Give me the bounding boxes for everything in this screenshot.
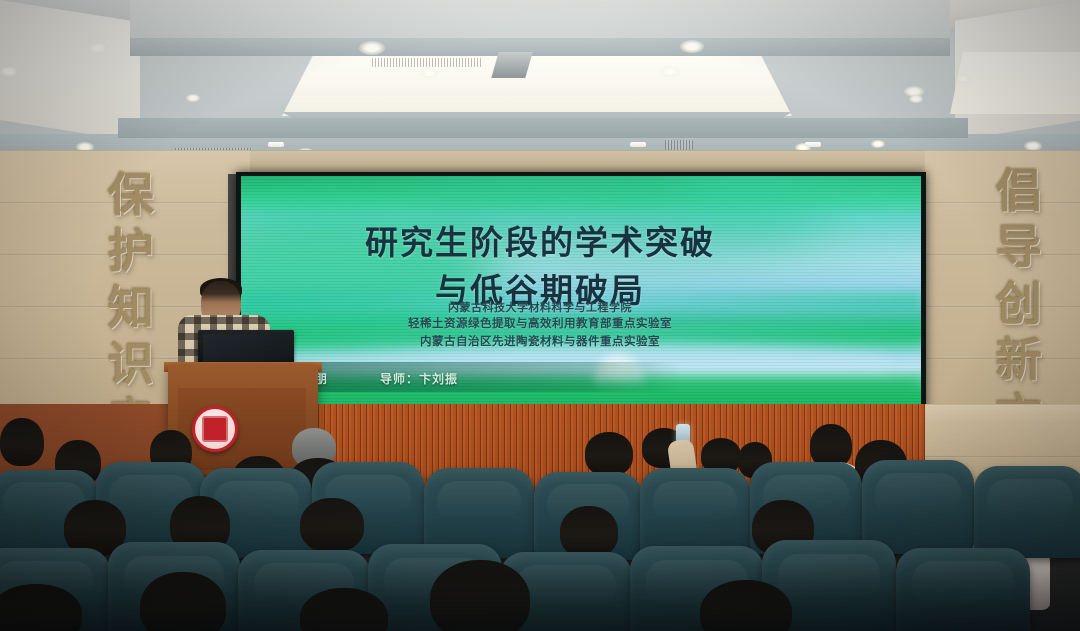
ceiling-plane-low bbox=[118, 118, 968, 138]
recessed-downlight bbox=[88, 42, 108, 54]
slide-subtitle-line1: 内蒙古科技大学材料科学与工程学院 bbox=[0, 299, 1080, 315]
recessed-downlight bbox=[871, 140, 885, 148]
ceiling-vent-right bbox=[665, 140, 693, 150]
audience-head bbox=[585, 432, 633, 476]
auditorium-seat bbox=[896, 548, 1030, 631]
university-seal-inner bbox=[202, 416, 228, 442]
ceiling-tray-bright bbox=[282, 56, 792, 116]
university-seal-icon bbox=[192, 406, 238, 452]
slot-light bbox=[805, 142, 821, 147]
slide-title-line1: 研究生阶段的学术突破 bbox=[0, 216, 1080, 264]
ceiling-tray-outer-shadow bbox=[130, 38, 950, 56]
ceiling-tray-outer bbox=[130, 0, 950, 38]
slot-light bbox=[630, 142, 646, 147]
ceiling-vent-mid bbox=[372, 58, 482, 67]
audience-head bbox=[300, 498, 364, 552]
ceiling-lightwell-right bbox=[950, 52, 1080, 114]
auditorium-seat bbox=[974, 466, 1080, 558]
recessed-downlight bbox=[186, 94, 200, 102]
auditorium-seat bbox=[640, 468, 750, 558]
recessed-downlight bbox=[359, 41, 385, 55]
slide-subtitle-line2: 轻稀土资源绿色提取与高效利用教育部重点实验室 bbox=[0, 315, 1080, 331]
calligraphy-char: 倡 bbox=[996, 168, 1042, 216]
recessed-downlight bbox=[955, 74, 971, 83]
recessed-downlight bbox=[420, 68, 438, 78]
audience-head bbox=[560, 506, 618, 558]
slide-subtitle-line3: 内蒙古自治区先进陶瓷材料与器件重点实验室 bbox=[0, 333, 1080, 349]
slot-light bbox=[268, 142, 284, 147]
laptop-screen bbox=[203, 334, 289, 364]
recessed-downlight bbox=[909, 95, 923, 103]
audience-head bbox=[0, 418, 44, 466]
audience-head bbox=[140, 572, 226, 631]
auditorium-photo: 保 护 知 识 产 倡 导 创 新 文 研究生阶段的学术突破 与低谷期破局 内蒙… bbox=[0, 0, 1080, 631]
recessed-downlight bbox=[0, 66, 18, 77]
auditorium-seat bbox=[862, 460, 974, 554]
calligraphy-char: 保 bbox=[108, 172, 154, 220]
audience-head bbox=[430, 560, 530, 631]
recessed-downlight bbox=[680, 40, 704, 53]
slide-footer-advisor: 导师：卞刘振 bbox=[380, 370, 458, 387]
recessed-downlight bbox=[660, 66, 680, 77]
